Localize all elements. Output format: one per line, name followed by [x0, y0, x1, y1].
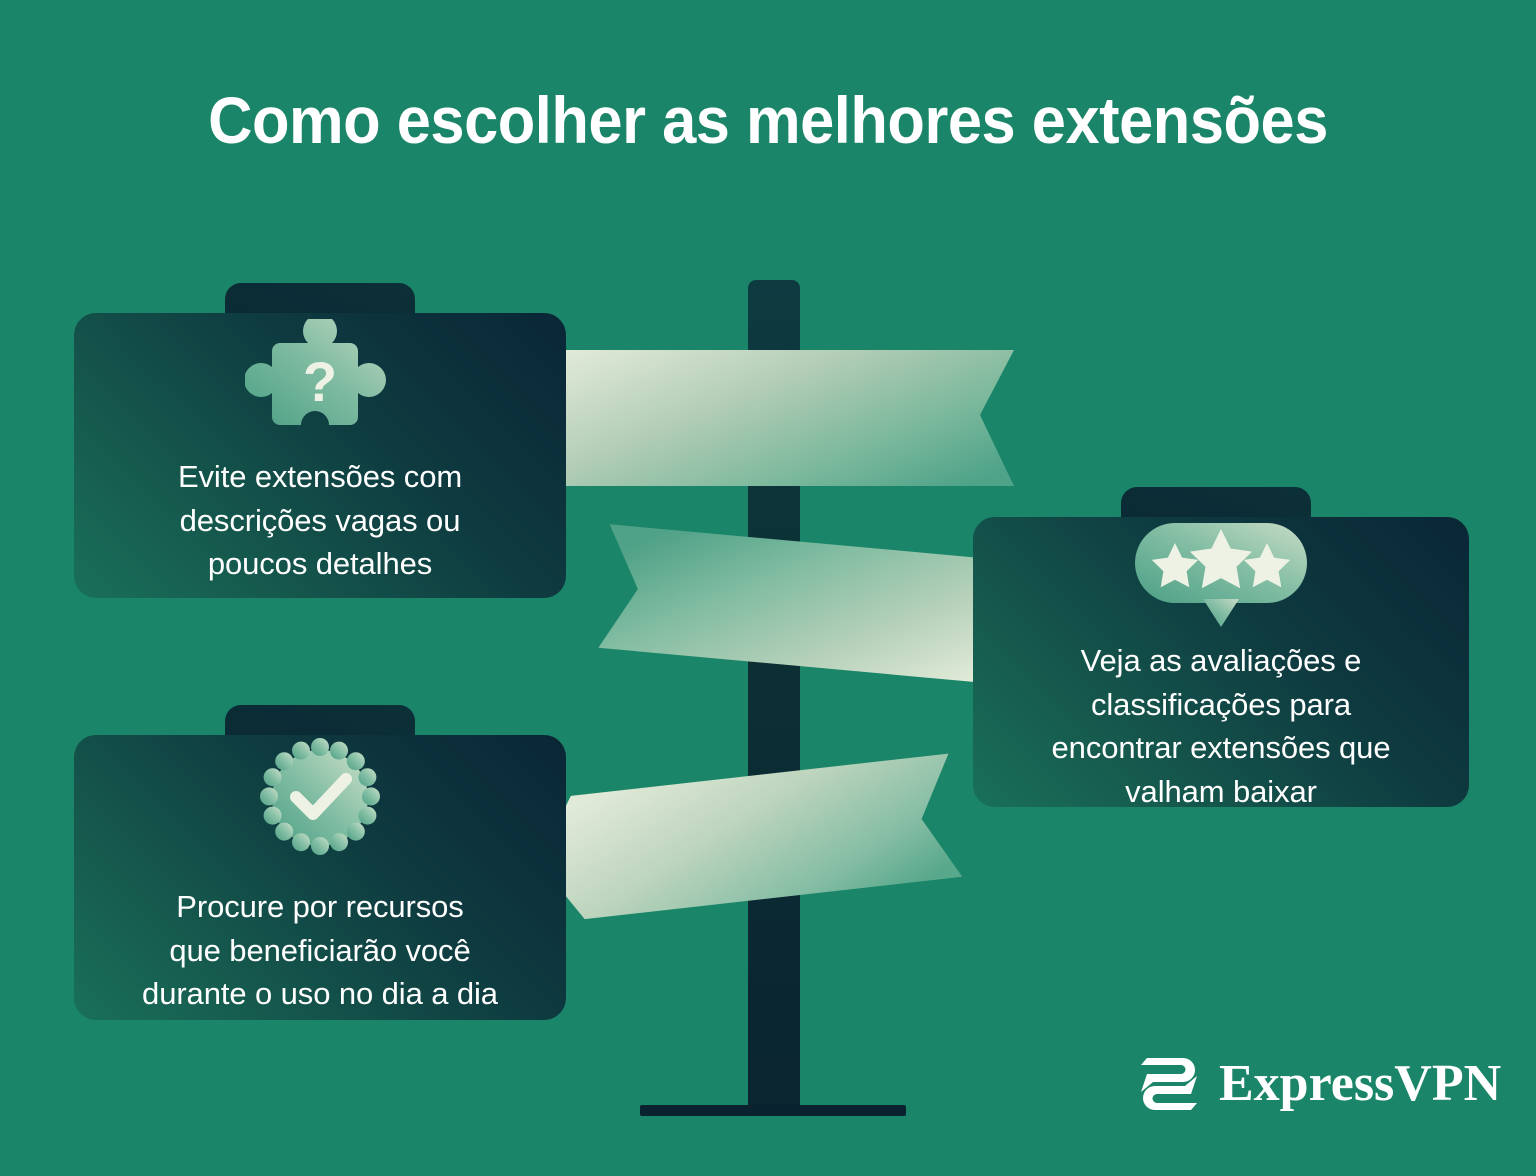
infographic-canvas: Como escolher as melhores extensões — [0, 0, 1536, 1176]
card-check-ratings: Veja as avaliações e classificações para… — [973, 517, 1469, 807]
expressvpn-wordmark: ExpressVPN — [1219, 1058, 1501, 1110]
expressvpn-logo: ExpressVPN — [1133, 1052, 1501, 1116]
expressvpn-e-mark-icon — [1133, 1052, 1205, 1116]
page-title: Como escolher as melhores extensões — [54, 86, 1482, 155]
verified-check-badge-icon — [258, 737, 382, 859]
card-avoid-vague-descriptions: ? Evite extensões com descrições vagas o… — [74, 313, 566, 598]
signpost-arrow-left-top — [514, 348, 1014, 488]
card-text: Procure por recursos que beneficiarão vo… — [142, 885, 498, 1016]
signpost-arrow-left-bottom — [531, 752, 963, 926]
card-useful-features: Procure por recursos que beneficiarão vo… — [74, 735, 566, 1020]
svg-text:?: ? — [303, 350, 337, 413]
signpost-base — [640, 1105, 906, 1116]
card-text: Evite extensões com descrições vagas ou … — [178, 455, 462, 586]
card-text: Veja as avaliações e classificações para… — [1052, 639, 1391, 814]
star-rating-bubble-icon — [1133, 521, 1309, 629]
puzzle-question-icon: ? — [245, 319, 395, 447]
